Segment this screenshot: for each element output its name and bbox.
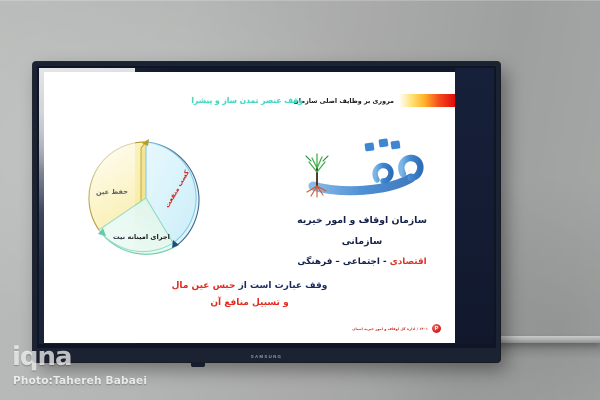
- slide-footer: P ۱۴۰۱ / اداره کل اوقاف و امور خیریه است…: [352, 324, 441, 333]
- org-line-3-rest: - اجتماعی – فرهنگی: [297, 257, 389, 267]
- donut-chart-svg: [72, 132, 222, 264]
- definition-prefix: وقف عبارت است از: [235, 281, 327, 291]
- photo-credit-caption: Photo:Tahereh Babaei: [13, 375, 147, 387]
- waqf-vav-stroke: [401, 158, 420, 178]
- wall-shelf-rail: [488, 336, 600, 343]
- wall-shelf-shadow: [488, 343, 600, 359]
- org-line-2: سازمانی: [283, 231, 441, 252]
- waqf-qaf-stroke: [375, 165, 391, 181]
- wall-seam: [0, 0, 600, 1]
- definition-highlight: حبس عین مال: [172, 281, 236, 291]
- waqf-baseline-stroke: [313, 178, 411, 191]
- waqf-logo-svg: [291, 128, 441, 204]
- powerpoint-badge-icon: P: [432, 324, 441, 333]
- header-gradient-bar: [399, 94, 455, 107]
- segment-label-hefz-ein: حفظ عین: [96, 188, 128, 197]
- org-line-3: اقتصادی - اجتماعی – فرهنگی: [283, 252, 441, 273]
- definition-line-2: و تسبیل منافع آن: [44, 295, 455, 312]
- waqf-pillars-diagram: حفظ عین کسب منفعت اجرای امینانه نیت: [72, 132, 222, 264]
- slide-footer-credit: ۱۴۰۱ / اداره کل اوقاف و امور خیریه استان: [352, 327, 428, 331]
- waqf-dot-3: [390, 140, 400, 149]
- segment-hefz-ein-side: [141, 142, 146, 204]
- organization-text-block: سازمان اوقاف و امور خیریه سازمانی اقتصاد…: [283, 210, 441, 273]
- org-line-3-accent: اقتصادی: [390, 257, 427, 267]
- slide-header-title: مروری بر وظایف اصلی سازمان: [293, 97, 394, 105]
- room-scene: مروری بر وظایف اصلی سازمان وقف عنصر تمدن…: [0, 0, 600, 400]
- tv-brand-logo: SAMSUNG: [251, 354, 283, 359]
- definition-line-1: وقف عبارت است از حبس عین مال: [44, 278, 455, 295]
- television[interactable]: مروری بر وظایف اصلی سازمان وقف عنصر تمدن…: [33, 62, 500, 362]
- tv-screen[interactable]: مروری بر وظایف اصلی سازمان وقف عنصر تمدن…: [39, 68, 494, 344]
- waqf-dot-1: [364, 142, 374, 151]
- waqf-dot-2: [378, 138, 388, 147]
- segment-label-ejra-amanat: اجرای امینانه نیت: [113, 233, 170, 241]
- tv-stand-foot: [191, 362, 205, 367]
- slide-subtitle: وقف عنصر تمدن ساز و پیشرا: [191, 96, 303, 105]
- waqf-definition-block: وقف عبارت است از حبس عین مال و تسبیل منا…: [44, 278, 455, 312]
- tree-icon: [306, 154, 328, 197]
- waqf-calligraphy-logo: [291, 128, 441, 204]
- org-line-1: سازمان اوقاف و امور خیریه: [283, 210, 441, 231]
- presentation-slide: مروری بر وظایف اصلی سازمان وقف عنصر تمدن…: [44, 72, 455, 343]
- slide-header: مروری بر وظایف اصلی سازمان: [293, 92, 455, 109]
- iqna-watermark-logo: iqna: [12, 344, 72, 370]
- panel-dark-right-strip: [455, 68, 494, 344]
